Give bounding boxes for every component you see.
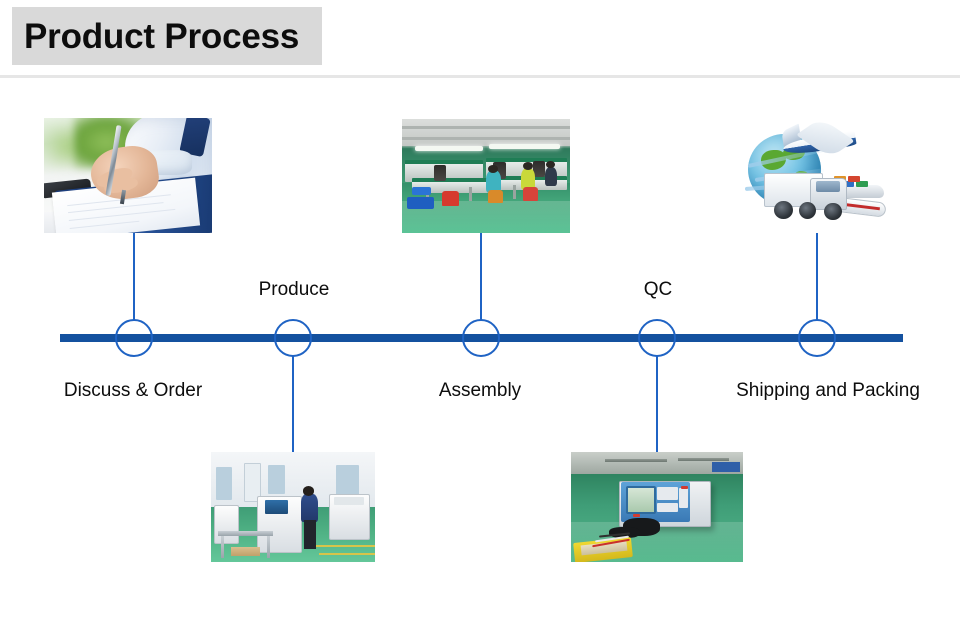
connector-qc: [656, 355, 658, 455]
photo-worker-head: [546, 161, 554, 168]
step-label-shipping: Shipping and Packing: [736, 380, 920, 402]
photo-tester-button: [681, 486, 688, 489]
photo-shipping: [742, 118, 900, 233]
timeline-node-assembly[interactable]: [462, 319, 500, 357]
connector-produce: [292, 355, 294, 455]
photo-tester-keypad: [679, 488, 688, 508]
photo-truck-wheel: [824, 203, 841, 220]
connector-assembly: [480, 233, 482, 321]
timeline-node-discuss-order[interactable]: [115, 319, 153, 357]
step-label-assembly: Assembly: [439, 380, 521, 402]
photo-machine: [434, 165, 446, 181]
photo-worktable: [267, 536, 270, 558]
photo-truck-wheel: [799, 202, 816, 219]
photo-assembly: [402, 119, 570, 233]
step-label-produce: Produce: [259, 279, 330, 301]
photo-operator-legs: [304, 520, 315, 549]
photo-worktable: [218, 531, 274, 535]
photo-background-bench: [678, 458, 730, 461]
photo-tester-button: [633, 514, 640, 517]
page-title: Product Process: [24, 19, 299, 54]
header-divider: [0, 75, 960, 78]
photo-background-bench: [605, 459, 667, 462]
photo-discuss-order: [44, 118, 212, 233]
photo-machine: [533, 161, 545, 177]
timeline-node-produce[interactable]: [274, 319, 312, 357]
connector-discuss-order: [133, 233, 135, 321]
photo-truck-window: [816, 181, 840, 191]
photo-stool: [488, 190, 503, 204]
photo-background-bench: [712, 462, 740, 472]
photo-wall-panel: [336, 465, 359, 496]
connector-shipping: [816, 233, 818, 321]
photo-wall-panel: [268, 465, 284, 494]
photo-blue-bin: [407, 197, 434, 210]
photo-tester-display: [626, 486, 656, 514]
photo-machine-panel: [334, 497, 364, 505]
photo-operator: [301, 494, 317, 523]
photo-light-tube: [415, 146, 482, 151]
photo-ceiling: [402, 119, 570, 146]
step-label-discuss-order: Discuss & Order: [64, 380, 202, 402]
photo-qc: [571, 452, 743, 562]
photo-tester-keypad: [657, 487, 678, 500]
photo-blue-bin: [412, 187, 430, 195]
photo-truck-wheel: [774, 201, 793, 219]
photo-worktable: [221, 536, 224, 558]
photo-wall-panel: [216, 467, 232, 500]
photo-worker: [545, 167, 557, 186]
photo-production-machine: [214, 505, 239, 544]
photo-tester-keypad: [657, 503, 678, 513]
timeline-node-qc[interactable]: [638, 319, 676, 357]
photo-cardboard-box: [231, 547, 261, 557]
photo-machine-panel: [265, 500, 288, 513]
photo-produce: [211, 452, 375, 562]
page-title-box: Product Process: [12, 7, 322, 65]
photo-stool: [523, 187, 538, 201]
slide-canvas: Product Process: [0, 0, 960, 617]
photo-stool: [442, 191, 459, 206]
step-label-qc: QC: [644, 279, 673, 301]
timeline-node-shipping[interactable]: [798, 319, 836, 357]
photo-worker-head: [488, 165, 498, 173]
photo-light-tube: [489, 144, 560, 149]
